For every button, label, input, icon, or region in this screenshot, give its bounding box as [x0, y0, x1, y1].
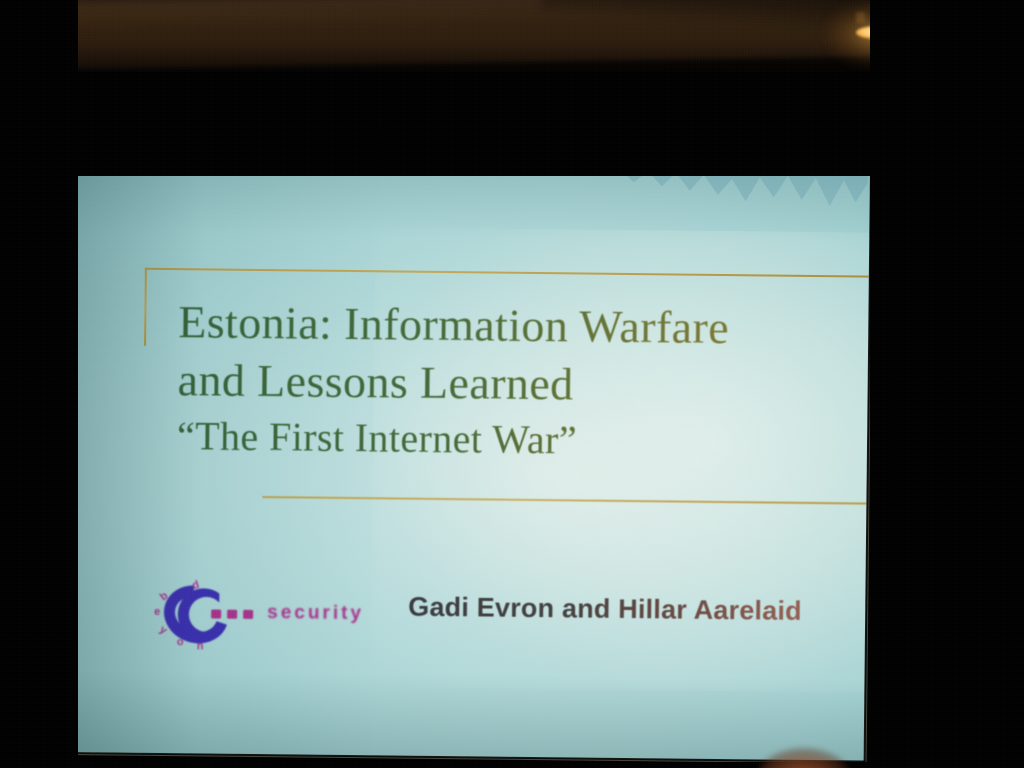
slide-title-block: Estonia: Information Warfare and Lessons… — [177, 293, 870, 470]
title-line-1: Estonia: Information Warfare — [178, 293, 870, 360]
room-dark-top — [0, 72, 1024, 176]
zigzag-decoration-icon — [537, 169, 867, 219]
top-rule — [145, 268, 870, 278]
slide-subtitle: “The First Internet War” — [177, 411, 870, 470]
room-dark-bottom — [0, 762, 1024, 768]
divider-rule — [262, 496, 870, 505]
photo-frame: Estonia: Information Warfare and Lessons… — [0, 0, 1024, 768]
left-rule — [144, 268, 147, 346]
svg-text:e: e — [154, 606, 160, 618]
svg-text:o: o — [177, 636, 184, 648]
svg-text:y: y — [157, 624, 170, 638]
projection-screen: Estonia: Information Warfare and Lessons… — [69, 164, 869, 768]
logo-wordmark: security — [267, 602, 364, 625]
presentation-slide: Estonia: Information Warfare and Lessons… — [70, 164, 870, 761]
beyond-security-logo-icon: b e y o n d security — [149, 571, 410, 660]
author-line: Gadi Evron and Hillar Aarelaid — [408, 592, 802, 627]
title-line-2: and Lessons Learned — [177, 351, 870, 418]
svg-text:n: n — [197, 640, 204, 652]
